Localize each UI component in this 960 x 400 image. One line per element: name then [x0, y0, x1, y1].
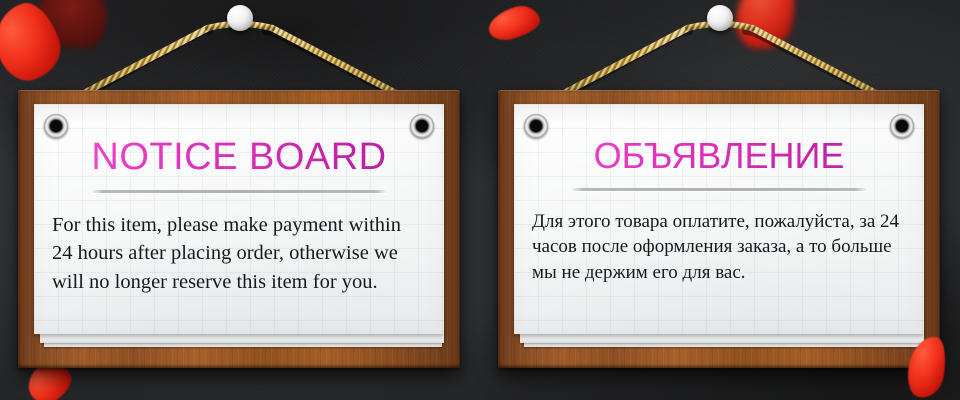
- board-body-text: For this item, please make payment withi…: [52, 211, 426, 296]
- metal-eyelet-icon: [410, 114, 434, 138]
- board-body-text: Для этого товара оплатите, пожалуйста, з…: [532, 209, 906, 285]
- metal-eyelet-icon: [890, 114, 914, 138]
- board-heading: NOTICE BOARD: [52, 138, 426, 176]
- nail-head-icon: [707, 5, 733, 31]
- heading-divider: [571, 188, 867, 191]
- metal-eyelet-icon: [524, 114, 548, 138]
- heading-divider: [91, 190, 387, 193]
- notice-board-banner: NOTICE BOARD For this item, please make …: [0, 0, 960, 400]
- notice-board-left: NOTICE BOARD For this item, please make …: [18, 90, 460, 368]
- notice-board-right: ОБЪЯВЛЕНИЕ Для этого товара оплатите, по…: [498, 90, 940, 368]
- board-heading: ОБЪЯВЛЕНИЕ: [532, 138, 906, 174]
- nail-head-icon: [227, 5, 253, 31]
- metal-eyelet-icon: [44, 114, 68, 138]
- board-content-left: NOTICE BOARD For this item, please make …: [52, 138, 426, 296]
- board-content-right: ОБЪЯВЛЕНИЕ Для этого товара оплатите, по…: [532, 138, 906, 285]
